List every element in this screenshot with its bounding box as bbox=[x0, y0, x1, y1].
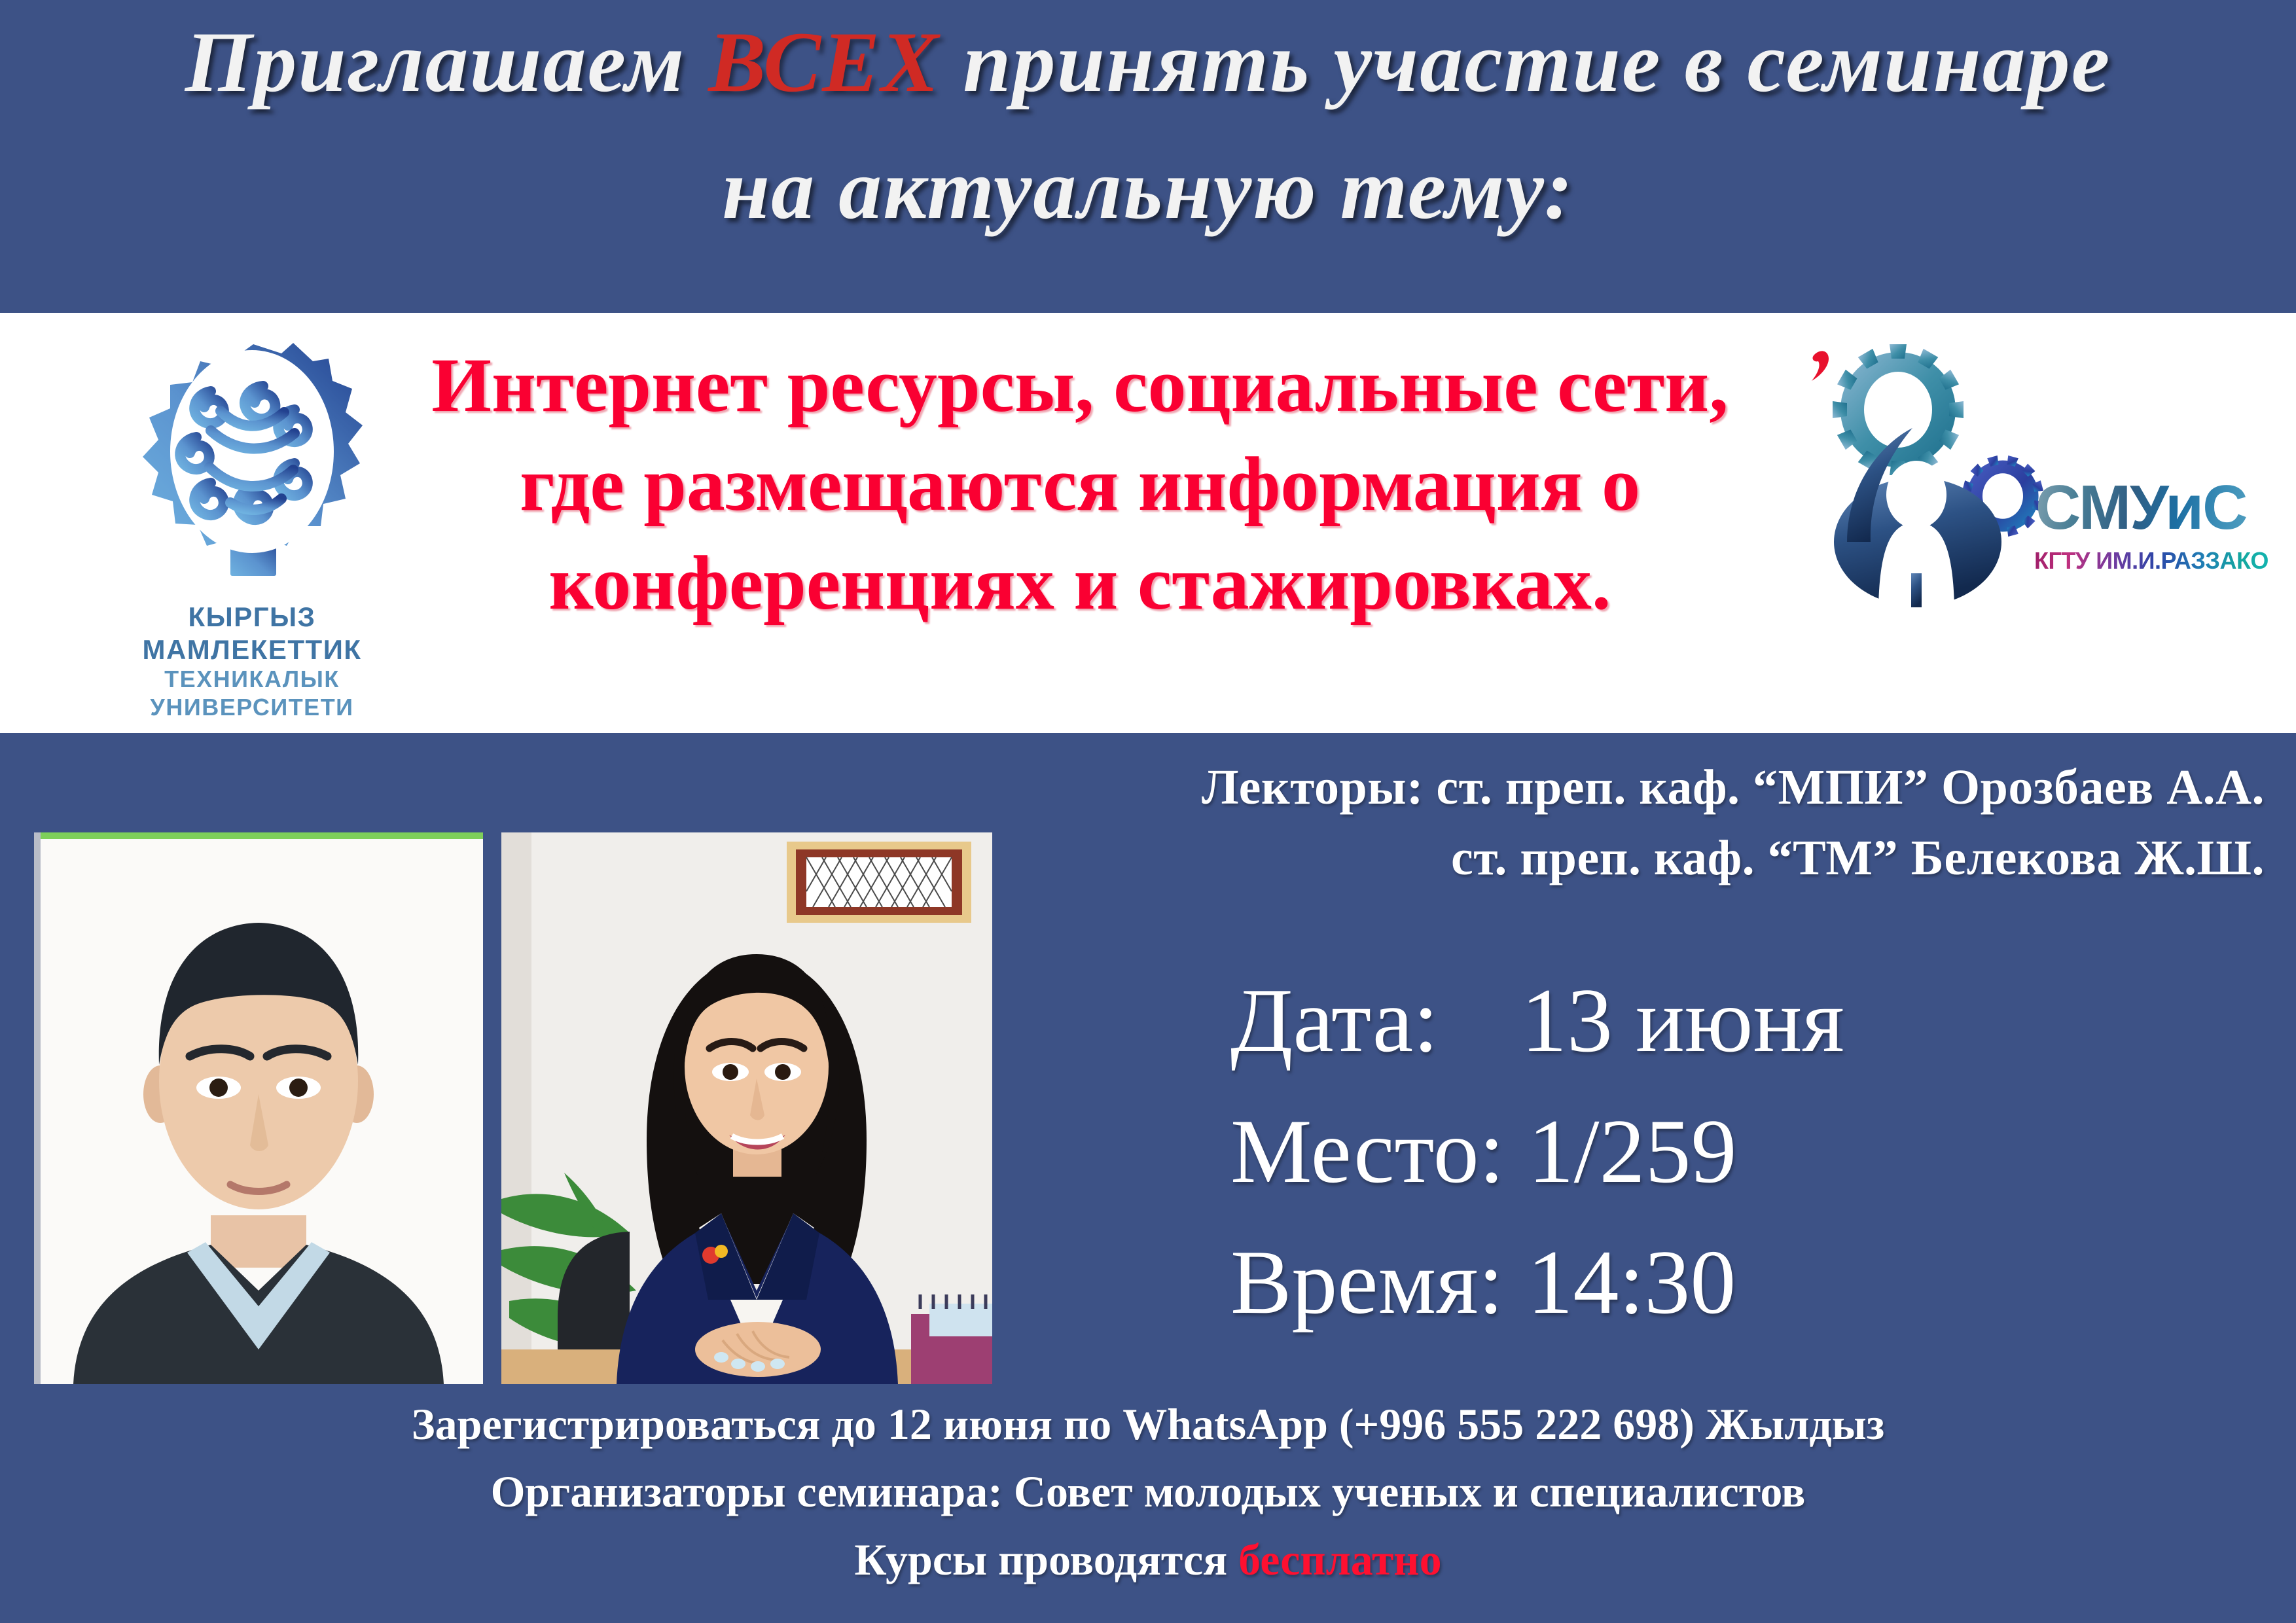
footer-free-prefix: Курсы проводятся bbox=[854, 1535, 1238, 1584]
kstu-logo-text: КЫРГЫЗ МАМЛЕКЕТТИК ТЕХНИКАЛЫК УНИВЕРСИТЕ… bbox=[98, 601, 406, 721]
portrait-female-image bbox=[501, 832, 992, 1384]
footer-free-line: Курсы проводятся бесплатно bbox=[0, 1526, 2296, 1594]
header-text-part2: принять участие в семинаре bbox=[940, 14, 2111, 110]
footer-block: Зарегистрироваться до 12 июня по WhatsAp… bbox=[0, 1391, 2296, 1594]
lecturer-row-2: ст. преп. каф. “ТМ” Белекова Ж.Ш. bbox=[916, 823, 2265, 894]
event-place-row: Место: 1/259 bbox=[1230, 1086, 2160, 1217]
header-invitation-line-2: на актуальную тему: bbox=[0, 139, 2296, 239]
event-date-value: 13 июня bbox=[1521, 955, 1844, 1086]
footer-organizers-line: Организаторы семинара: Совет молодых уче… bbox=[0, 1458, 2296, 1525]
seminar-title-line-3: конференциях и стажировках. bbox=[393, 533, 1767, 632]
seminar-title: Интернет ресурсы, социальные сети, где р… bbox=[393, 336, 1767, 632]
smuis-logo-subtitle: КГТУ ИМ.И.РАЗЗАКОВА bbox=[2034, 547, 2270, 575]
details-band: Лекторы: ст. преп. каф. “МПИ” Орозбаев А… bbox=[0, 733, 2296, 1623]
event-place-value: 1/259 bbox=[1528, 1086, 1737, 1217]
portrait-male-image bbox=[34, 832, 483, 1384]
event-date-label: Дата: bbox=[1230, 955, 1439, 1086]
event-place-label: Место: bbox=[1230, 1086, 1505, 1217]
header-highlight-vseh: ВСЕХ bbox=[708, 14, 940, 110]
kstu-logo: КЫРГЫЗ МАМЛЕКЕТТИК ТЕХНИКАЛЫК УНИВЕРСИТЕ… bbox=[98, 339, 406, 705]
smuis-logo: СМУиС КГТУ ИМ.И.РАЗЗАКОВА bbox=[1806, 326, 2265, 633]
header-band: Приглашаем ВСЕХ принять участие в семина… bbox=[0, 0, 2296, 313]
seminar-title-line-2: где размещаются информация о bbox=[393, 435, 1767, 533]
event-time-row: Время: 14:30 bbox=[1230, 1217, 2160, 1348]
smuis-logo-wordmark: СМУиС bbox=[2036, 476, 2265, 539]
lecturer-photo-female bbox=[501, 832, 992, 1384]
footer-registration-line: Зарегистрироваться до 12 июня по WhatsAp… bbox=[0, 1391, 2296, 1458]
header-text-part1: Приглашаем bbox=[185, 14, 709, 110]
kstu-logo-line2: ТЕХНИКАЛЫК УНИВЕРСИТЕТИ bbox=[98, 666, 406, 721]
title-band: КЫРГЫЗ МАМЛЕКЕТТИК ТЕХНИКАЛЫК УНИВЕРСИТЕ… bbox=[0, 313, 2296, 733]
header-invitation-line-1: Приглашаем ВСЕХ принять участие в семина… bbox=[0, 12, 2296, 112]
seminar-title-line-1: Интернет ресурсы, социальные сети, bbox=[393, 336, 1767, 435]
footer-free-highlight: бесплатно bbox=[1238, 1535, 1441, 1584]
kstu-logo-line1: КЫРГЫЗ МАМЛЕКЕТТИК bbox=[98, 601, 406, 666]
event-date-row: Дата: 13 июня bbox=[1230, 955, 2160, 1086]
kstu-gear-ornament-icon bbox=[132, 339, 374, 601]
lecturer-photo-male bbox=[34, 832, 483, 1384]
event-time-value: 14:30 bbox=[1527, 1217, 1736, 1348]
lecturer-row-1: Лекторы: ст. преп. каф. “МПИ” Орозбаев А… bbox=[916, 753, 2265, 823]
event-details-block: Дата: 13 июня Место: 1/259 Время: 14:30 bbox=[1230, 955, 2160, 1349]
lecturers-block: Лекторы: ст. преп. каф. “МПИ” Орозбаев А… bbox=[916, 753, 2265, 894]
event-time-label: Время: bbox=[1230, 1217, 1503, 1348]
